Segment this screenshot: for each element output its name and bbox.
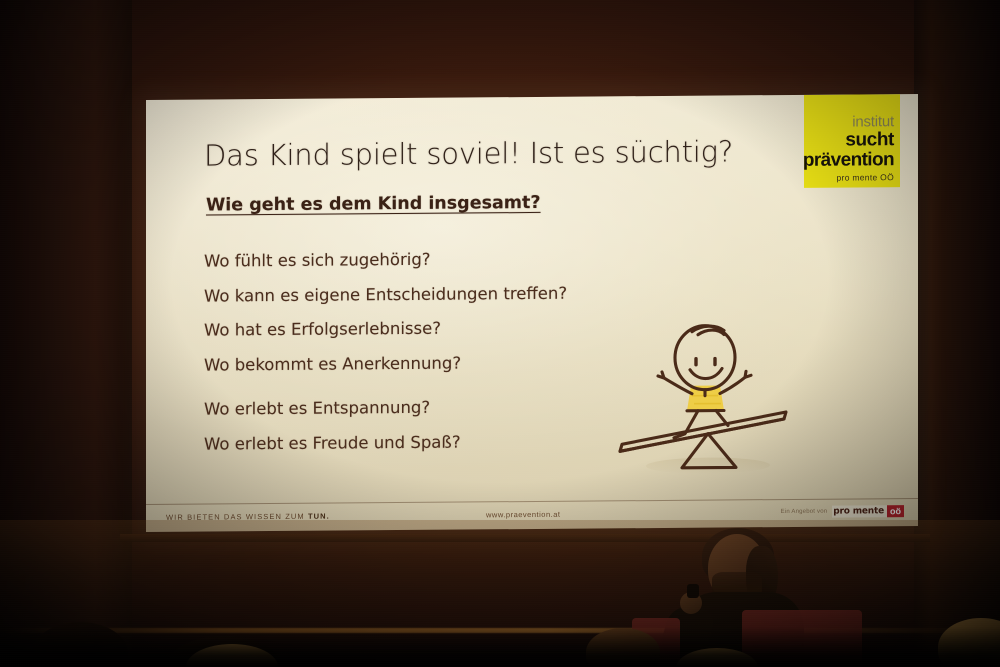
foreground-darkness: [0, 627, 1000, 667]
audience: [0, 0, 1000, 667]
photo-scene: institut sucht prävention pro mente OÖ D…: [0, 0, 1000, 667]
